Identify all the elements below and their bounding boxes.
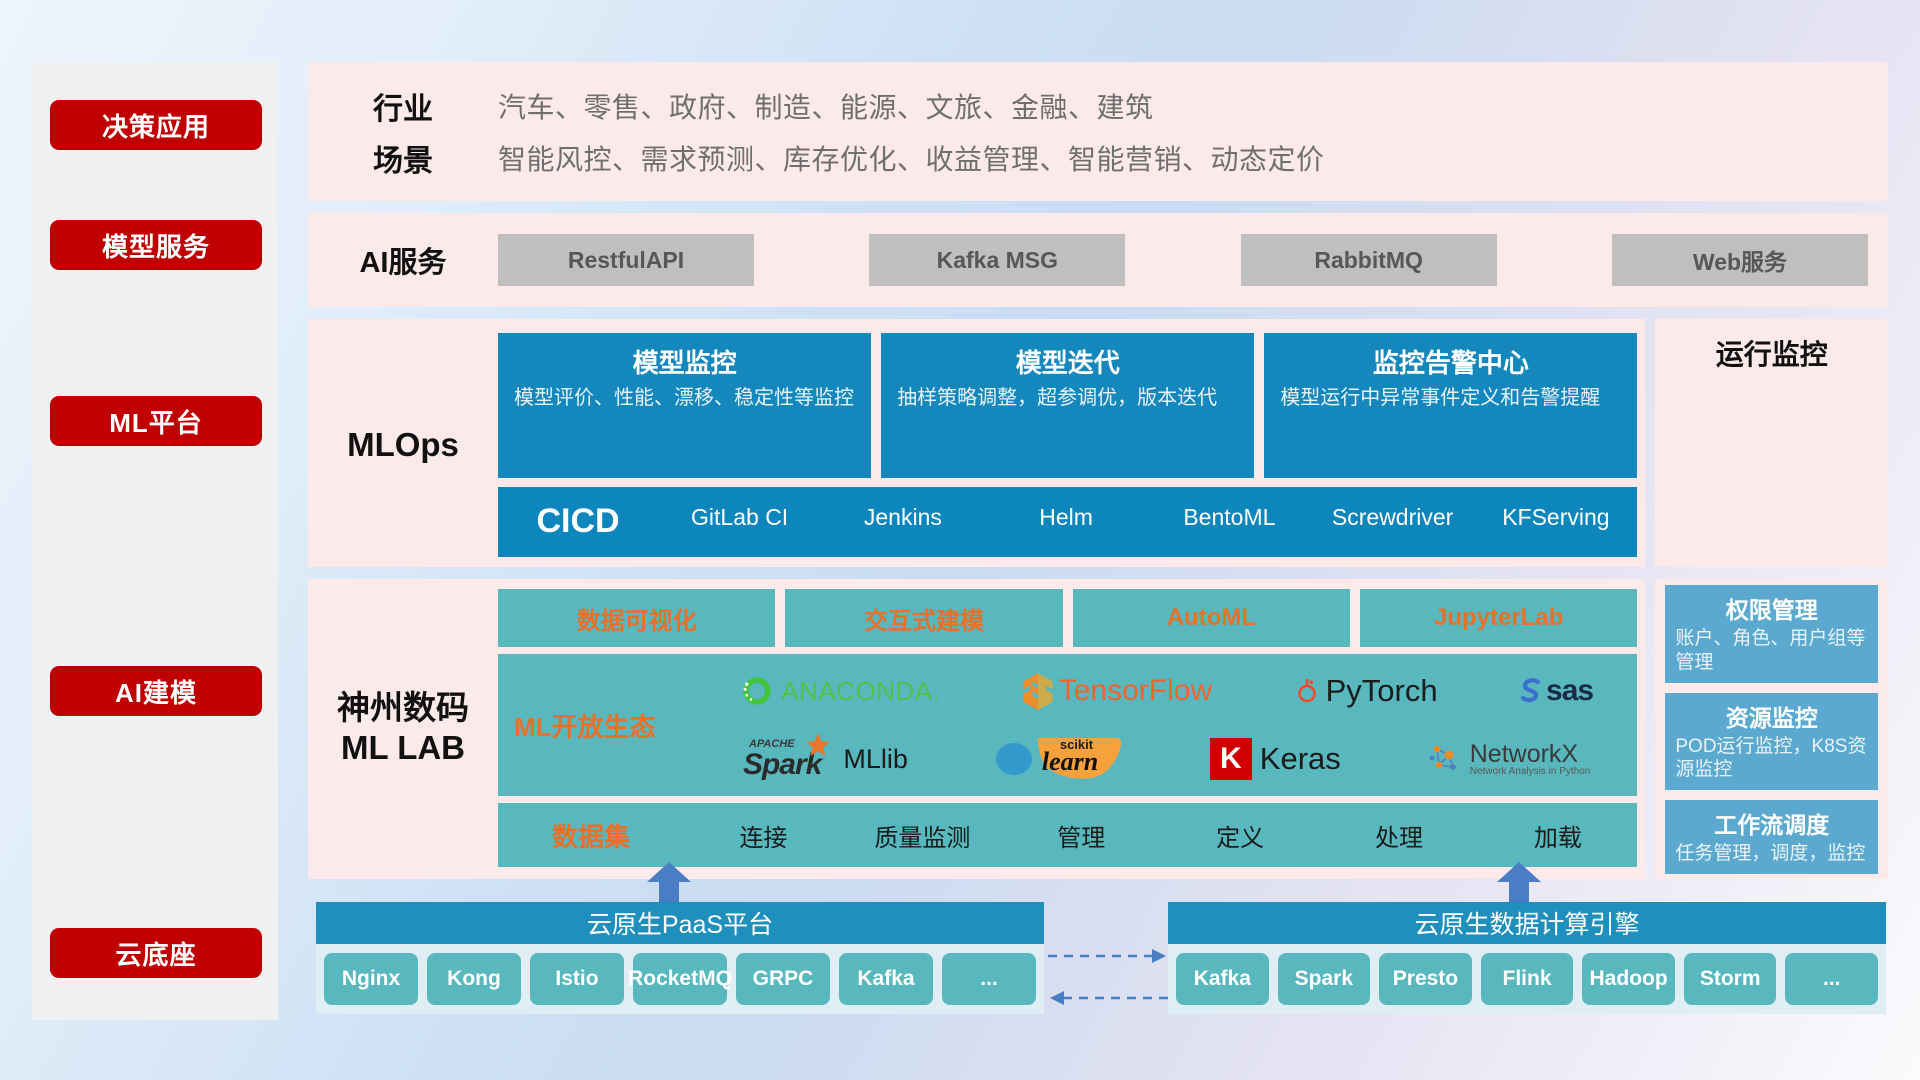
monitoring-card-title: 工作流调度 bbox=[1675, 806, 1868, 840]
ai-modeling-band: 神州数码 ML LAB 数据可视化 交互式建模 AutoML J bbox=[308, 579, 1888, 879]
ops-card-title: 监控告警中心 bbox=[1280, 343, 1621, 380]
engine-chip-more[interactable]: ... bbox=[1785, 953, 1878, 1005]
mlops-label: MLOps bbox=[308, 333, 498, 557]
paas-chip-kafka[interactable]: Kafka bbox=[839, 953, 933, 1005]
ml-lab-main: 神州数码 ML LAB 数据可视化 交互式建模 AutoML J bbox=[308, 579, 1645, 879]
dataset-item-definition[interactable]: 定义 bbox=[1161, 818, 1320, 853]
decision-apps-band: 行业 汽车、零售、政府、制造、能源、文旅、金融、建筑 场景 智能风控、需求预测、… bbox=[308, 62, 1888, 201]
paas-chip-istio[interactable]: Istio bbox=[530, 953, 624, 1005]
connector-arrow-left bbox=[1050, 991, 1064, 1005]
tool-chip-label: AutoML bbox=[1167, 604, 1256, 632]
anaconda-wordmark: ANACONDA. bbox=[781, 676, 940, 707]
scikit-bottom-word: learn bbox=[1042, 747, 1098, 777]
paas-chip-rocketmq[interactable]: RocketMQ bbox=[633, 953, 727, 1005]
service-chip-kafka-msg[interactable]: Kafka MSG bbox=[869, 234, 1125, 286]
dataset-item-processing[interactable]: 处理 bbox=[1320, 818, 1479, 853]
layer-tag-ml-platform[interactable]: ML平台 bbox=[50, 396, 262, 446]
cicd-label: CICD bbox=[498, 502, 658, 541]
layer-tag-decision-apps[interactable]: 决策应用 bbox=[50, 100, 262, 150]
band-divider bbox=[308, 567, 1888, 579]
service-chip-restfulapi[interactable]: RestfulAPI bbox=[498, 234, 754, 286]
scenario-key: 场景 bbox=[308, 136, 498, 180]
ai-service-chip-list: RestfulAPI Kafka MSG RabbitMQ Web服务 bbox=[498, 234, 1888, 286]
cloud-foundation-zone: 云原生PaaS平台 Nginx Kong Istio RocketMQ GRPC… bbox=[308, 862, 1888, 1027]
tool-chip-label: JupyterLab bbox=[1434, 604, 1563, 632]
monitoring-card-resources[interactable]: 资源监控 POD运行监控，K8S资源监控 bbox=[1665, 693, 1878, 791]
service-chip-label: RestfulAPI bbox=[568, 247, 684, 274]
ops-card-desc: 抽样策略调整，超参调优，版本迭代 bbox=[897, 386, 1238, 412]
cicd-item-helm[interactable]: Helm bbox=[985, 505, 1148, 529]
cicd-item-jenkins[interactable]: Jenkins bbox=[821, 505, 984, 529]
ml-lab-label-line2: ML LAB bbox=[337, 728, 469, 768]
engine-chip-flink[interactable]: Flink bbox=[1481, 953, 1574, 1005]
cloud-bidirectional-connector bbox=[1044, 862, 1172, 1027]
paas-chip-kong[interactable]: Kong bbox=[427, 953, 521, 1005]
monitoring-panel-header: 运行监控 bbox=[1655, 319, 1888, 567]
logo-row-2: APACHE Spark MLlib bbox=[700, 726, 1633, 792]
ops-card-desc: 模型评价、性能、漂移、稳定性等监控 bbox=[514, 386, 855, 412]
cloud-paas-group: 云原生PaaS平台 Nginx Kong Istio RocketMQ GRPC… bbox=[316, 902, 1044, 1014]
sas-logo: sas bbox=[1518, 674, 1593, 708]
engine-chip-spark[interactable]: Spark bbox=[1278, 953, 1371, 1005]
cloud-data-engine-group: 云原生数据计算引擎 Kafka Spark Presto Flink Hadoo… bbox=[1168, 902, 1886, 1014]
ai-service-label: AI服务 bbox=[308, 239, 498, 281]
paas-up-arrow-icon bbox=[646, 862, 692, 906]
engine-chip-presto[interactable]: Presto bbox=[1379, 953, 1472, 1005]
networkx-wordmark: NetworkX bbox=[1470, 741, 1591, 767]
paas-chip-nginx[interactable]: Nginx bbox=[324, 953, 418, 1005]
networkx-logo: NetworkX Network Analysis in Python bbox=[1427, 741, 1591, 778]
ml-ecosystem-label: ML开放生态 bbox=[514, 707, 700, 744]
scenario-value: 智能风控、需求预测、库存优化、收益管理、智能营销、动态定价 bbox=[498, 138, 1325, 178]
engine-chip-hadoop[interactable]: Hadoop bbox=[1582, 953, 1675, 1005]
band-divider bbox=[308, 201, 1888, 213]
cicd-item-screwdriver[interactable]: Screwdriver bbox=[1311, 505, 1474, 529]
keras-mark: K bbox=[1220, 742, 1242, 776]
ops-card-title: 模型迭代 bbox=[897, 343, 1238, 380]
dataset-item-management[interactable]: 管理 bbox=[1002, 818, 1161, 853]
mlops-main: MLOps 模型监控 模型评价、性能、漂移、稳定性等监控 模型迭代 抽样策略调整… bbox=[308, 319, 1645, 567]
ml-tool-chip-list: 数据可视化 交互式建模 AutoML JupyterLab bbox=[498, 589, 1637, 647]
layer-tag-ai-modeling[interactable]: AI建模 bbox=[50, 666, 262, 716]
paas-chip-grpc[interactable]: GRPC bbox=[736, 953, 830, 1005]
dataset-item-connect[interactable]: 连接 bbox=[684, 818, 843, 853]
sas-wordmark: sas bbox=[1546, 674, 1593, 708]
keras-wordmark: Keras bbox=[1260, 741, 1341, 777]
mlops-content: 模型监控 模型评价、性能、漂移、稳定性等监控 模型迭代 抽样策略调整，超参调优，… bbox=[498, 333, 1645, 557]
dataset-item-quality-monitoring[interactable]: 质量监测 bbox=[843, 818, 1002, 853]
spark-star-icon bbox=[803, 731, 833, 761]
cicd-item-gitlab-ci[interactable]: GitLab CI bbox=[658, 505, 821, 529]
mllib-wordmark: MLlib bbox=[843, 744, 908, 775]
tensorflow-icon bbox=[1021, 672, 1055, 710]
mlops-card-list: 模型监控 模型评价、性能、漂移、稳定性等监控 模型迭代 抽样策略调整，超参调优，… bbox=[498, 333, 1637, 478]
cicd-item-kfserving[interactable]: KFServing bbox=[1474, 505, 1637, 529]
tool-chip-label: 数据可视化 bbox=[577, 601, 697, 636]
scikit-learn-logo: scikit learn bbox=[994, 734, 1124, 785]
sas-icon bbox=[1518, 676, 1544, 706]
layer-tag-label: 决策应用 bbox=[102, 107, 210, 144]
cloud-paas-title: 云原生PaaS平台 bbox=[316, 902, 1044, 944]
ml-ecosystem-row: ML开放生态 ANACONDA. bbox=[498, 654, 1637, 796]
ops-card-title: 模型监控 bbox=[514, 343, 855, 380]
service-chip-label: RabbitMQ bbox=[1314, 247, 1423, 274]
ops-card-model-iteration[interactable]: 模型迭代 抽样策略调整，超参调优，版本迭代 bbox=[881, 333, 1254, 478]
layer-tag-label: ML平台 bbox=[109, 403, 203, 440]
layer-tag-model-service[interactable]: 模型服务 bbox=[50, 220, 262, 270]
ml-lab-label-line1: 神州数码 bbox=[337, 688, 469, 728]
anaconda-icon bbox=[740, 674, 774, 708]
tool-chip-label: 交互式建模 bbox=[864, 601, 984, 636]
pytorch-logo: PyTorch bbox=[1293, 673, 1438, 709]
ops-card-desc: 模型运行中异常事件定义和告警提醒 bbox=[1280, 386, 1621, 412]
logo-row-1: ANACONDA. TensorFlow bbox=[700, 658, 1633, 724]
monitoring-title: 运行监控 bbox=[1716, 333, 1828, 373]
tool-chip-jupyterlab[interactable]: JupyterLab bbox=[1360, 589, 1637, 647]
paas-chip-more[interactable]: ... bbox=[942, 953, 1036, 1005]
cloud-data-engine-chip-list: Kafka Spark Presto Flink Hadoop Storm ..… bbox=[1168, 944, 1886, 1014]
industry-value: 汽车、零售、政府、制造、能源、文旅、金融、建筑 bbox=[498, 86, 1154, 126]
data-engine-up-arrow-icon bbox=[1496, 862, 1542, 906]
service-chip-web-service[interactable]: Web服务 bbox=[1612, 234, 1868, 286]
band-divider bbox=[308, 307, 1888, 319]
industry-key: 行业 bbox=[308, 84, 498, 128]
mlops-band: MLOps 模型监控 模型评价、性能、漂移、稳定性等监控 模型迭代 抽样策略调整… bbox=[308, 319, 1888, 567]
engine-chip-storm[interactable]: Storm bbox=[1684, 953, 1777, 1005]
pytorch-wordmark: PyTorch bbox=[1326, 673, 1438, 709]
cicd-toolbar: CICD GitLab CI Jenkins Helm BentoML Scre… bbox=[498, 487, 1637, 557]
engine-chip-kafka[interactable]: Kafka bbox=[1176, 953, 1269, 1005]
dataset-item-loading[interactable]: 加载 bbox=[1478, 818, 1637, 853]
ml-lab-label: 神州数码 ML LAB bbox=[308, 589, 498, 867]
spark-mllib-logo: APACHE Spark MLlib bbox=[743, 739, 908, 780]
industry-row: 行业 汽车、零售、政府、制造、能源、文旅、金融、建筑 bbox=[308, 80, 1888, 132]
tensorflow-wordmark: TensorFlow bbox=[1059, 674, 1212, 708]
monitoring-card-title: 权限管理 bbox=[1675, 591, 1868, 625]
cicd-item-bentoml[interactable]: BentoML bbox=[1148, 505, 1311, 529]
ml-ecosystem-logo-grid: ANACONDA. TensorFlow bbox=[700, 658, 1633, 792]
anaconda-logo: ANACONDA. bbox=[740, 674, 940, 708]
pytorch-icon bbox=[1293, 674, 1321, 708]
layer-tag-rail: 决策应用 模型服务 ML平台 AI建模 云底座 bbox=[32, 62, 278, 1020]
networkx-icon bbox=[1427, 741, 1465, 777]
monitoring-card-desc: 账户、角色、用户组等管理 bbox=[1675, 627, 1868, 675]
tool-chip-data-visualization[interactable]: 数据可视化 bbox=[498, 589, 775, 647]
dataset-label: 数据集 bbox=[498, 817, 684, 854]
ai-service-band: AI服务 RestfulAPI Kafka MSG RabbitMQ Web服务 bbox=[308, 213, 1888, 307]
layer-tag-label: AI建模 bbox=[115, 673, 197, 710]
cloud-data-engine-title: 云原生数据计算引擎 bbox=[1168, 902, 1886, 944]
keras-icon: K bbox=[1210, 738, 1252, 780]
monitoring-card-desc: POD运行监控，K8S资源监控 bbox=[1675, 735, 1868, 783]
connector-arrow-right bbox=[1152, 949, 1166, 963]
layer-tag-label: 模型服务 bbox=[102, 227, 210, 264]
ops-card-alert-center[interactable]: 监控告警中心 模型运行中异常事件定义和告警提醒 bbox=[1264, 333, 1637, 478]
layer-tag-cloud-foundation[interactable]: 云底座 bbox=[50, 928, 262, 978]
service-chip-rabbitmq[interactable]: RabbitMQ bbox=[1241, 234, 1497, 286]
ml-lab-content: 数据可视化 交互式建模 AutoML JupyterLab ML开放生态 bbox=[498, 589, 1645, 867]
architecture-stack: 行业 汽车、零售、政府、制造、能源、文旅、金融、建筑 场景 智能风控、需求预测、… bbox=[308, 62, 1888, 879]
cloud-paas-chip-list: Nginx Kong Istio RocketMQ GRPC Kafka ... bbox=[316, 944, 1044, 1014]
service-chip-label: Web服务 bbox=[1693, 243, 1787, 277]
ops-card-model-monitoring[interactable]: 模型监控 模型评价、性能、漂移、稳定性等监控 bbox=[498, 333, 871, 478]
networkx-tagline: Network Analysis in Python bbox=[1470, 767, 1591, 778]
tool-chip-automl[interactable]: AutoML bbox=[1073, 589, 1350, 647]
monitoring-card-title: 资源监控 bbox=[1675, 699, 1868, 733]
tensorflow-logo: TensorFlow bbox=[1021, 672, 1212, 710]
scenario-row: 场景 智能风控、需求预测、库存优化、收益管理、智能营销、动态定价 bbox=[308, 132, 1888, 184]
service-chip-label: Kafka MSG bbox=[937, 247, 1058, 274]
layer-tag-label: 云底座 bbox=[115, 935, 196, 972]
dataset-row: 数据集 连接 质量监测 管理 定义 处理 加载 bbox=[498, 803, 1637, 867]
tool-chip-interactive-modeling[interactable]: 交互式建模 bbox=[785, 589, 1062, 647]
keras-logo: K Keras bbox=[1210, 738, 1341, 780]
monitoring-card-permissions[interactable]: 权限管理 账户、角色、用户组等管理 bbox=[1665, 585, 1878, 683]
monitoring-panel-cards: 权限管理 账户、角色、用户组等管理 资源监控 POD运行监控，K8S资源监控 工… bbox=[1655, 579, 1888, 879]
